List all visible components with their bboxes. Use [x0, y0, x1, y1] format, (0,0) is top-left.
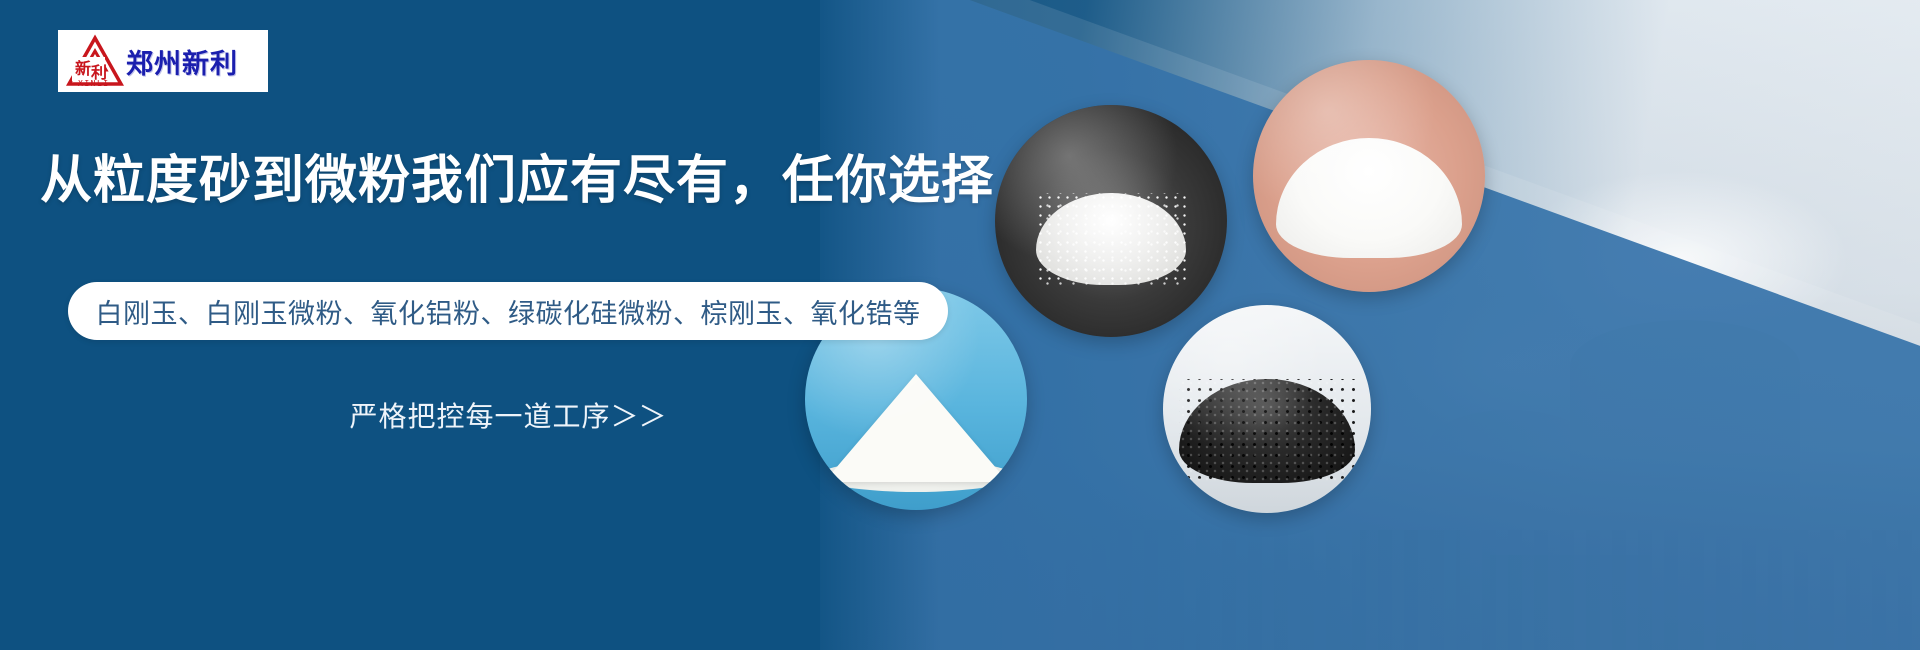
material-heap	[1036, 193, 1186, 285]
svg-text:新: 新	[75, 59, 91, 78]
material-heap	[1179, 379, 1355, 483]
headline: 从粒度砂到微粉我们应有尽有，任你选择	[40, 138, 994, 213]
xinli-triangle-icon: 新 利 XINLI	[66, 34, 124, 88]
tagline[interactable]: 严格把控每一道工序＞＞	[68, 395, 948, 435]
product-image-white-fused-alumina-powder[interactable]	[1253, 60, 1485, 292]
product-image-white-fused-alumina-grit[interactable]	[995, 105, 1227, 337]
material-heap	[1276, 138, 1462, 258]
svg-text:XINLI: XINLI	[78, 79, 110, 88]
granule-texture	[1179, 379, 1355, 483]
tagline-text: 严格把控每一道工序	[349, 400, 610, 433]
promo-banner: 新 利 XINLI 郑州新利 从粒度砂到微粉我们应有尽有，任你选择 白刚玉、白刚…	[0, 0, 1920, 650]
product-list-text: 白刚玉、白刚玉微粉、氧化铝粉、绿碳化硅微粉、棕刚玉、氧化锆等	[96, 292, 921, 331]
product-list-pill: 白刚玉、白刚玉微粉、氧化铝粉、绿碳化硅微粉、棕刚玉、氧化锆等	[68, 282, 948, 340]
product-image-black-silicon-carbide[interactable]	[1163, 305, 1371, 513]
company-logo[interactable]: 新 利 XINLI 郑州新利	[58, 30, 268, 92]
tagline-arrows: ＞＞	[611, 400, 667, 433]
granule-texture	[1036, 193, 1186, 285]
logo-company-name: 郑州新利	[126, 42, 238, 81]
